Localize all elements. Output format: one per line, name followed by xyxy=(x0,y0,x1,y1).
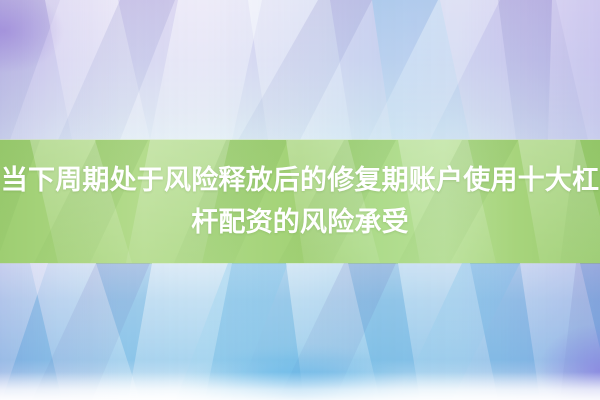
banner-headline: 当下周期处于风险释放后的修复期账户使用十大杠 杆配资的风险承受 xyxy=(0,140,600,263)
bottom-watermark xyxy=(282,376,352,394)
article-header-banner: 当下周期处于风险释放后的修复期账户使用十大杠 杆配资的风险承受 xyxy=(0,0,600,400)
headline-line-1: 当下周期处于风险释放后的修复期账户使用十大杠 xyxy=(1,160,599,202)
headline-line-2: 杆配资的风险承受 xyxy=(191,202,409,244)
